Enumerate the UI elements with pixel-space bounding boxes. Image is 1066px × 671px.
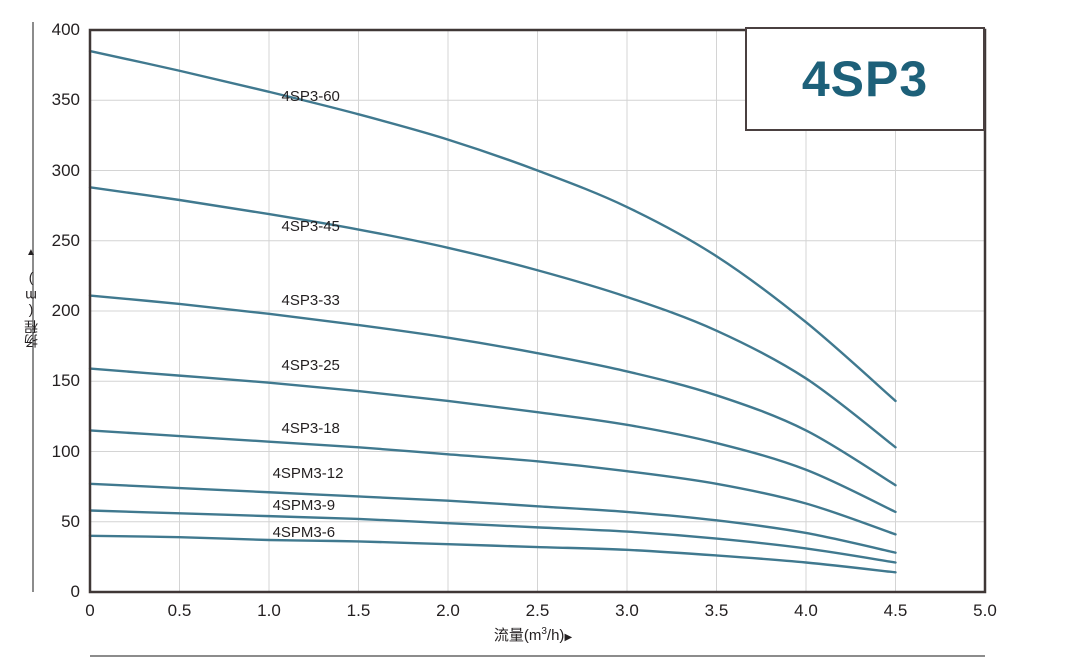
chart-title: 4SP3 bbox=[802, 54, 928, 104]
chart-title-box: 4SP3 bbox=[745, 27, 985, 131]
x-tick-label: 4.0 bbox=[776, 602, 836, 619]
x-axis-arrow-icon: ▶ bbox=[564, 632, 572, 643]
x-axis-label-suffix: /h) bbox=[547, 627, 565, 644]
y-tick-label: 350 bbox=[26, 91, 80, 108]
curve-4sp3-45 bbox=[90, 187, 896, 447]
x-tick-label: 0.5 bbox=[150, 602, 210, 619]
y-tick-label: 400 bbox=[26, 21, 80, 38]
x-tick-label: 3.0 bbox=[597, 602, 657, 619]
curve-label-4sp3-33: 4SP3-33 bbox=[282, 293, 340, 308]
curve-label-4sp3-18: 4SP3-18 bbox=[282, 421, 340, 436]
y-tick-label: 150 bbox=[26, 372, 80, 389]
curve-4spm3-12 bbox=[90, 484, 896, 553]
curve-label-4spm3-12: 4SPM3-12 bbox=[273, 466, 344, 481]
curve-4sp3-18 bbox=[90, 430, 896, 534]
y-tick-label: 250 bbox=[26, 232, 80, 249]
curve-label-4sp3-25: 4SP3-25 bbox=[282, 358, 340, 373]
x-tick-label: 4.5 bbox=[866, 602, 926, 619]
curve-4spm3-9 bbox=[90, 511, 896, 563]
curve-label-4spm3-6: 4SPM3-6 bbox=[273, 525, 336, 540]
curve-label-4spm3-9: 4SPM3-9 bbox=[273, 498, 336, 513]
x-tick-label: 5.0 bbox=[955, 602, 1015, 619]
x-tick-label: 2.0 bbox=[418, 602, 478, 619]
curve-label-4sp3-45: 4SP3-45 bbox=[282, 219, 340, 234]
y-tick-label: 300 bbox=[26, 162, 80, 179]
x-tick-label: 2.5 bbox=[508, 602, 568, 619]
x-tick-label: 1.5 bbox=[329, 602, 389, 619]
y-tick-label: 100 bbox=[26, 443, 80, 460]
x-tick-label: 1.0 bbox=[239, 602, 299, 619]
x-axis-label: 流量(m3/h)▶ bbox=[0, 624, 1066, 645]
x-tick-label: 0 bbox=[60, 602, 120, 619]
x-tick-label: 3.5 bbox=[687, 602, 747, 619]
y-tick-label: 0 bbox=[26, 583, 80, 600]
x-axis-label-prefix: 流量(m bbox=[494, 627, 542, 644]
pump-performance-chart: ▲ 扬程(m) 流量(m3/h)▶ 0501001502002503003504… bbox=[0, 0, 1066, 671]
curve-4spm3-6 bbox=[90, 536, 896, 573]
curve-label-4sp3-60: 4SP3-60 bbox=[282, 89, 340, 104]
y-tick-label: 50 bbox=[26, 513, 80, 530]
y-tick-label: 200 bbox=[26, 302, 80, 319]
